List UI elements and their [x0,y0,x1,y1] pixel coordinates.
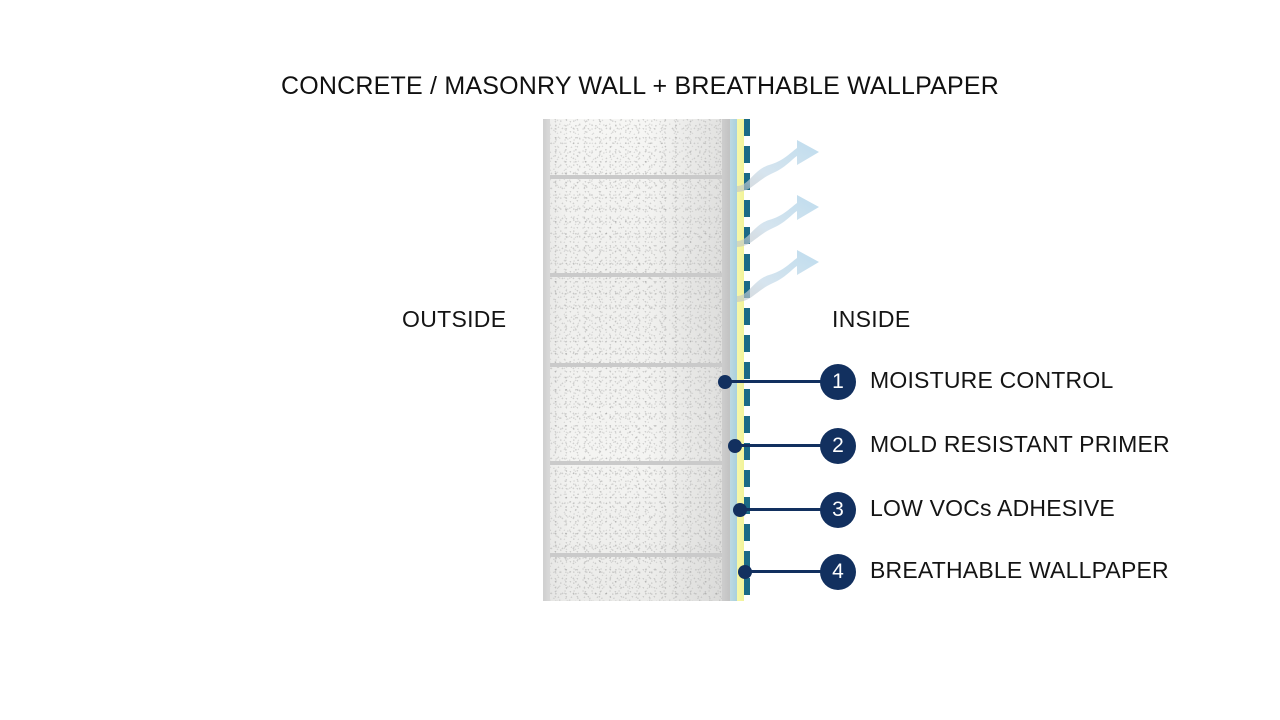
concrete-inner-face [722,119,730,601]
callout-label: BREATHABLE WALLPAPER [870,557,1169,584]
callout-label: MOLD RESISTANT PRIMER [870,431,1170,458]
wavy-arrow-icon [735,187,835,249]
callout-number-badge: 2 [820,428,856,464]
wavy-arrow-icon [735,242,835,304]
mortar-joint [550,461,722,465]
wallpaper-dash [744,308,750,325]
wallpaper-dash [744,470,750,487]
vapor-permeability-arrows [735,120,845,300]
callout-number-badge: 4 [820,554,856,590]
callout-number-badge: 1 [820,364,856,400]
callout-breathable-wallpaper[interactable]: 4 BREATHABLE WALLPAPER [738,554,1198,590]
diagram-canvas: CONCRETE / MASONRY WALL + BREATHABLE WAL… [0,0,1280,720]
wallpaper-dash [744,335,750,352]
mortar-joint [550,273,722,277]
wavy-arrow-icon [735,132,835,194]
inside-label: INSIDE [832,306,910,333]
callout-number-badge: 3 [820,492,856,528]
page-title: CONCRETE / MASONRY WALL + BREATHABLE WAL… [0,72,1280,101]
callout-label: LOW VOCs ADHESIVE [870,495,1115,522]
concrete-shading [543,119,722,601]
callout-label: MOISTURE CONTROL [870,367,1113,394]
mortar-joint [550,363,722,367]
concrete-block-layer [543,119,722,601]
callout-moisture-control[interactable]: 1 MOISTURE CONTROL [718,364,1178,400]
wall-assembly [543,119,750,601]
mortar-joint [550,553,722,557]
callout-mold-resistant-primer[interactable]: 2 MOLD RESISTANT PRIMER [728,428,1188,464]
mortar-joint [550,175,722,179]
callout-low-vocs-adhesive[interactable]: 3 LOW VOCs ADHESIVE [733,492,1193,528]
outside-label: OUTSIDE [402,306,506,333]
concrete-left-edge [543,119,550,601]
